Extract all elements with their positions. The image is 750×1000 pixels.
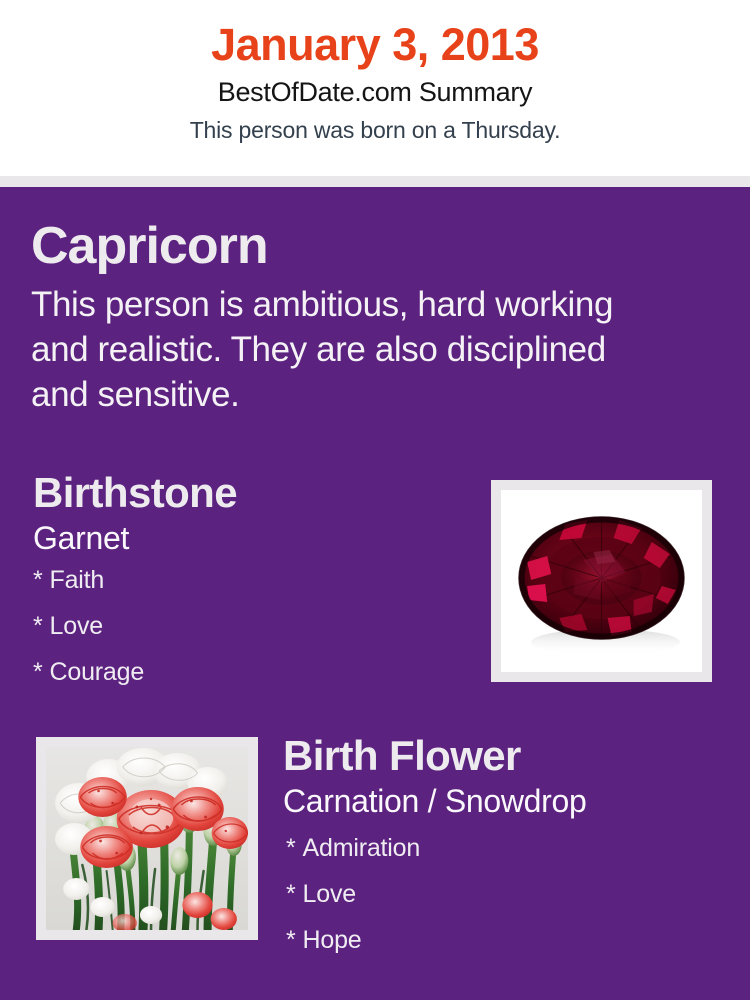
zodiac-sign-name: Capricorn [31, 220, 671, 272]
birth-flower-name: Carnation / Snowdrop [283, 777, 733, 817]
list-item-label: Love [50, 612, 103, 640]
list-item-label: Admiration [303, 834, 421, 862]
zodiac-section: Capricorn This person is ambitious, hard… [31, 220, 671, 417]
list-item-label: Hope [303, 926, 362, 954]
page-title: January 3, 2013 [0, 0, 750, 67]
list-item: *Admiration [283, 836, 733, 882]
header-divider [0, 176, 750, 187]
birthstone-image-frame [491, 480, 712, 682]
birthstone-heading: Birthstone [33, 472, 463, 514]
list-item: *Courage [33, 660, 463, 706]
bullet-star-icon: * [33, 568, 50, 593]
birth-flower-image-frame [36, 737, 258, 940]
carnation-bouquet-photo [46, 747, 248, 930]
bullet-star-icon: * [286, 882, 303, 907]
birth-flower-heading: Birth Flower [283, 735, 733, 777]
list-item: *Love [283, 882, 733, 928]
list-item: *Hope [283, 928, 733, 974]
list-item-label: Courage [50, 658, 145, 686]
birthstone-section: Birthstone Garnet *Faith *Love *Courage [33, 472, 463, 706]
birthstone-trait-list: *Faith *Love *Courage [33, 554, 463, 706]
list-item: *Faith [33, 568, 463, 614]
bullet-star-icon: * [286, 928, 303, 953]
born-weekday-label: This person was born on a Thursday. [0, 106, 750, 142]
garnet-gemstone-photo [501, 490, 702, 672]
site-summary-label: BestOfDate.com Summary [0, 67, 750, 106]
bullet-star-icon: * [33, 660, 50, 685]
bullet-star-icon: * [286, 836, 303, 861]
zodiac-description: This person is ambitious, hard working a… [31, 272, 651, 417]
birth-flower-trait-list: *Admiration *Love *Hope [283, 817, 733, 974]
bullet-star-icon: * [33, 614, 50, 639]
details-panel: Capricorn This person is ambitious, hard… [0, 187, 750, 1000]
card-header: January 3, 2013 BestOfDate.com Summary T… [0, 0, 750, 176]
list-item: *Love [33, 614, 463, 660]
list-item-label: Faith [50, 566, 105, 594]
list-item-label: Love [303, 880, 356, 908]
birthstone-name: Garnet [33, 514, 463, 554]
birthday-summary-card: January 3, 2013 BestOfDate.com Summary T… [0, 0, 750, 1000]
birth-flower-section: Birth Flower Carnation / Snowdrop *Admir… [283, 735, 733, 974]
